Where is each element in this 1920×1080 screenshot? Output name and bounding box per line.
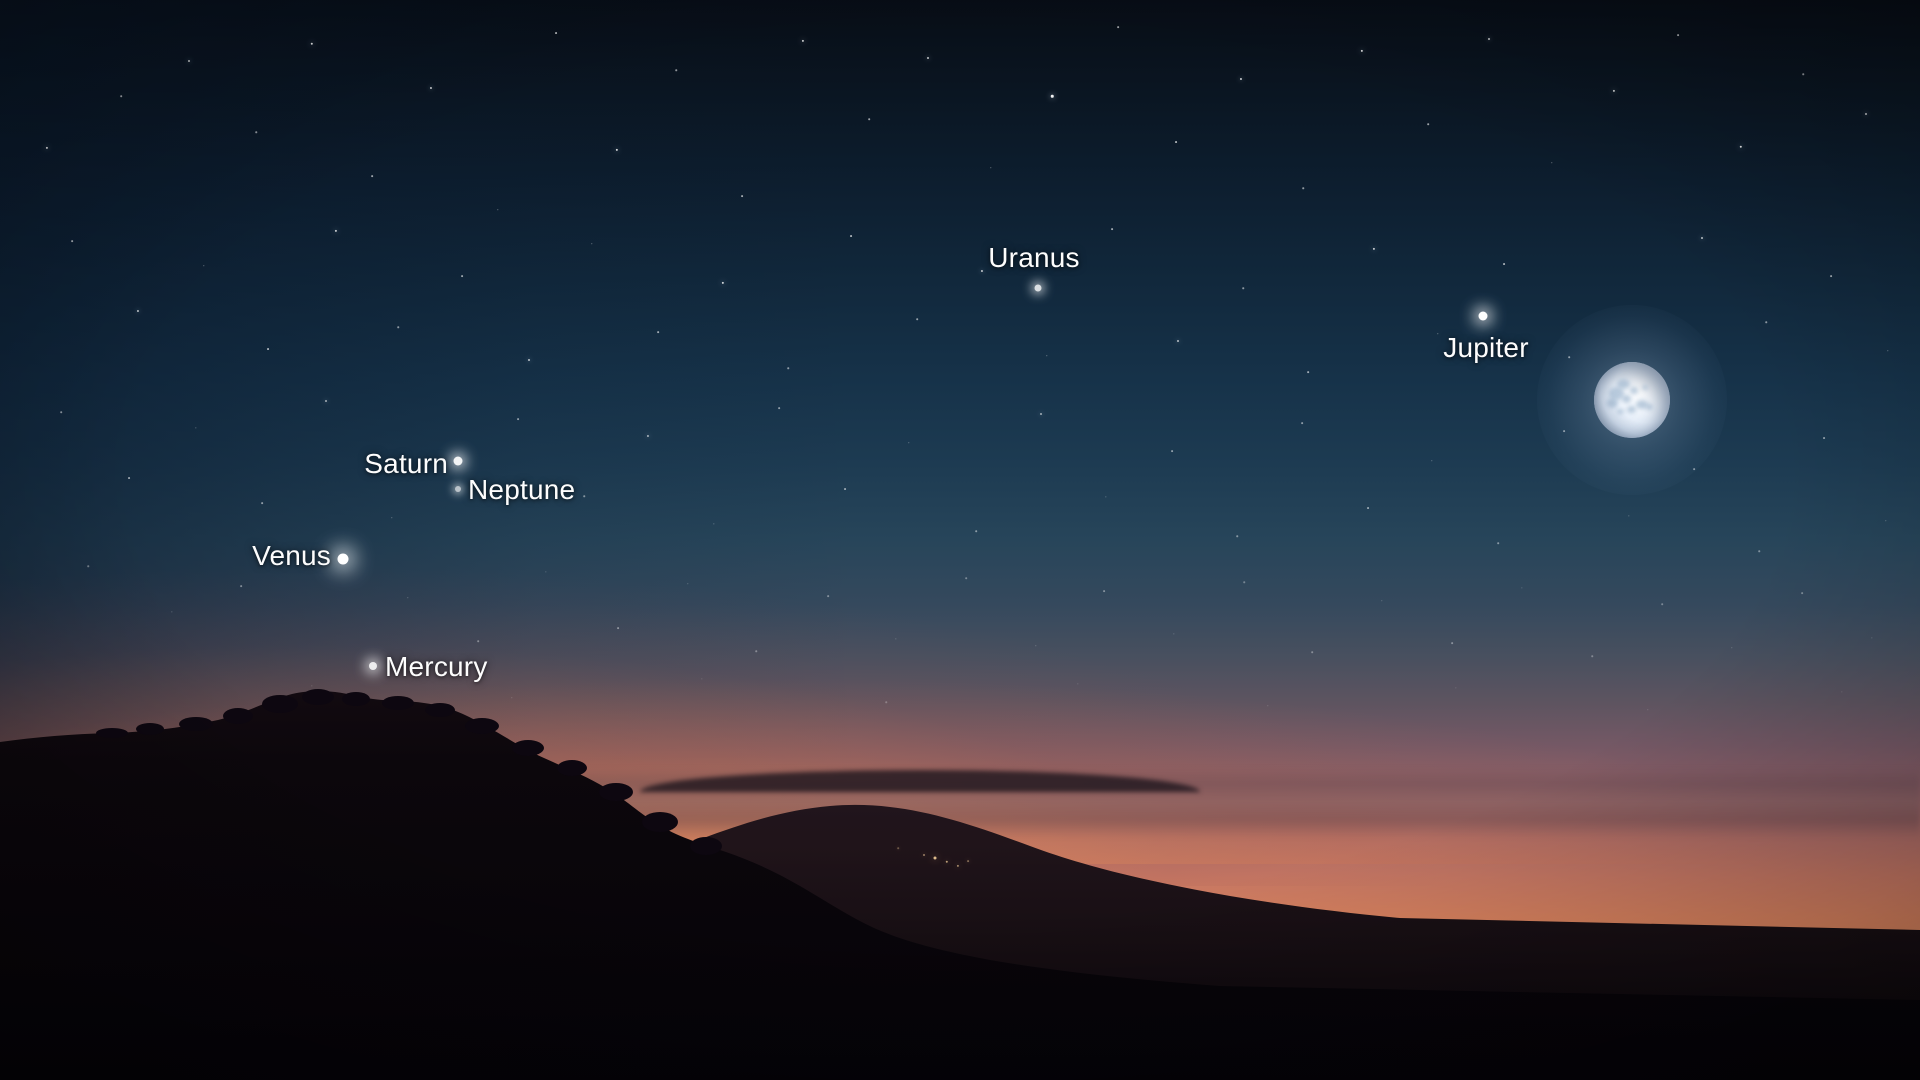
moon-disc bbox=[1594, 362, 1670, 438]
planet-marker-venus[interactable] bbox=[338, 554, 349, 565]
planet-marker-jupiter[interactable] bbox=[1479, 312, 1488, 321]
planet-marker-saturn[interactable] bbox=[454, 457, 463, 466]
planet-label-uranus[interactable]: Uranus bbox=[988, 242, 1079, 274]
planet-label-venus[interactable]: Venus bbox=[252, 540, 331, 572]
planet-marker-uranus[interactable] bbox=[1035, 285, 1042, 292]
planet-label-saturn[interactable]: Saturn bbox=[364, 448, 448, 480]
moon[interactable] bbox=[1594, 362, 1670, 438]
village-light bbox=[897, 847, 899, 849]
village-light bbox=[923, 854, 925, 856]
planet-marker-neptune[interactable] bbox=[455, 486, 461, 492]
night-sky-scene: UranusJupiterSaturnNeptuneVenusMercury bbox=[0, 0, 1920, 1080]
planet-label-neptune[interactable]: Neptune bbox=[468, 474, 575, 506]
village-light bbox=[967, 860, 969, 862]
planet-marker-mercury[interactable] bbox=[369, 662, 377, 670]
planet-label-jupiter[interactable]: Jupiter bbox=[1443, 332, 1528, 364]
planet-label-mercury[interactable]: Mercury bbox=[385, 651, 488, 683]
village-light bbox=[934, 857, 937, 860]
moon-terminator bbox=[1594, 362, 1670, 438]
